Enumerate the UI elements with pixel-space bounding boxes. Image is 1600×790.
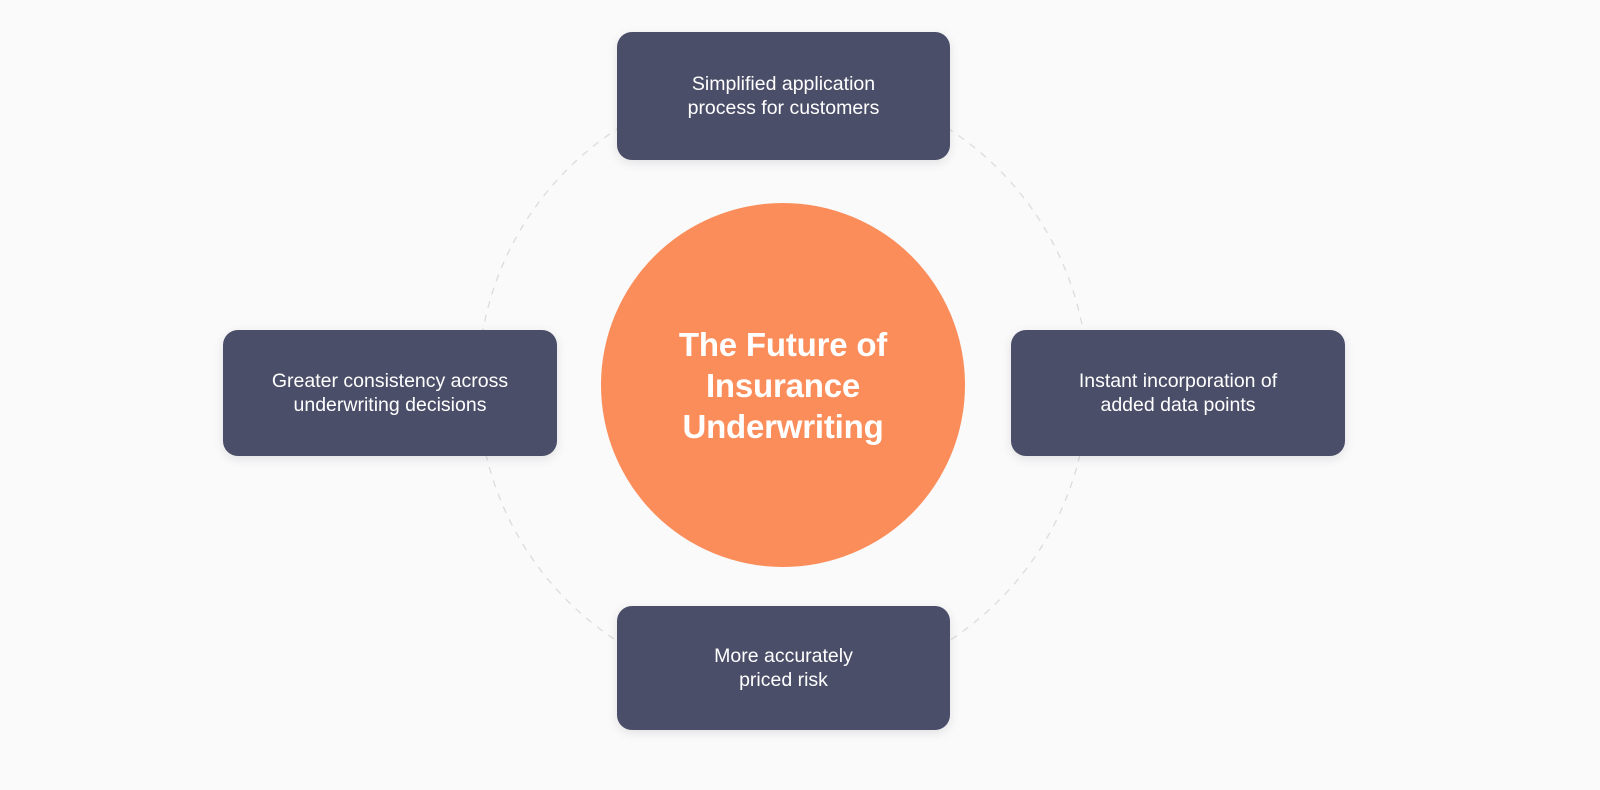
node-card-left-label: Greater consistency across underwriting … [254, 369, 526, 417]
center-hub-title: The Future of Insurance Underwriting [653, 324, 913, 447]
node-card-bottom[interactable]: More accurately priced risk [617, 606, 950, 730]
node-card-top-label: Simplified application process for custo… [670, 72, 898, 120]
center-hub-circle: The Future of Insurance Underwriting [601, 203, 965, 567]
node-card-bottom-label: More accurately priced risk [696, 644, 871, 692]
diagram-canvas: The Future of Insurance Underwriting Sim… [0, 0, 1600, 790]
node-card-right[interactable]: Instant incorporation of added data poin… [1011, 330, 1345, 456]
node-card-top[interactable]: Simplified application process for custo… [617, 32, 950, 160]
node-card-right-label: Instant incorporation of added data poin… [1061, 369, 1295, 417]
node-card-left[interactable]: Greater consistency across underwriting … [223, 330, 557, 456]
